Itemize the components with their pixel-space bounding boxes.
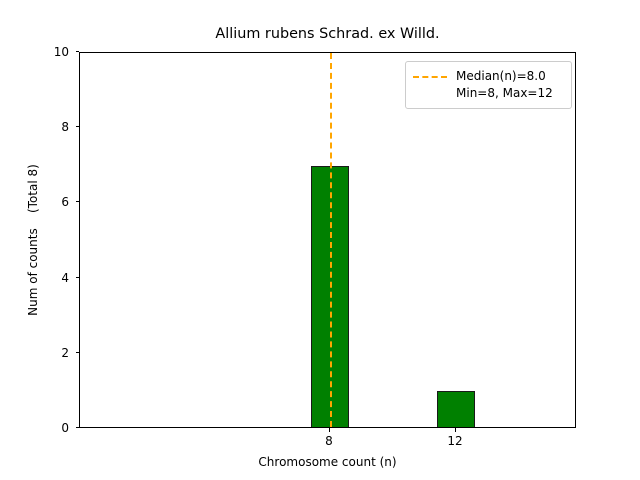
legend-label-median: Median(n)=8.0 [456,69,546,84]
ytick-label-0: 0 [61,422,69,434]
chart-title: Allium rubens Schrad. ex Willd. [79,26,576,43]
ytick-label-4: 4 [61,272,69,284]
legend-entry-minmax: Min=8, Max=12 [413,85,564,102]
chart-legend: Median(n)=8.0 Min=8, Max=12 [405,61,572,109]
y-axis-label: Num of counts (Total 8) [22,52,44,428]
bar-12[interactable] [437,391,475,428]
legend-label-minmax: Min=8, Max=12 [456,86,553,101]
legend-entry-median: Median(n)=8.0 [413,68,564,85]
ytick-label-8: 8 [61,121,69,133]
chart-figure: Allium rubens Schrad. ex Willd. 0 2 4 6 … [0,0,640,480]
ytick-label-2: 2 [61,347,69,359]
xtick-label-8: 8 [325,434,333,448]
xtick-mark-12 [455,428,456,432]
ytick-label-10: 10 [54,46,69,58]
xtick-label-12: 12 [447,434,462,448]
ytick-label-6: 6 [61,196,69,208]
x-axis-label: Chromosome count (n) [79,455,576,469]
median-line [330,53,332,427]
dashed-line-icon [413,76,447,78]
xtick-mark-8 [329,428,330,432]
